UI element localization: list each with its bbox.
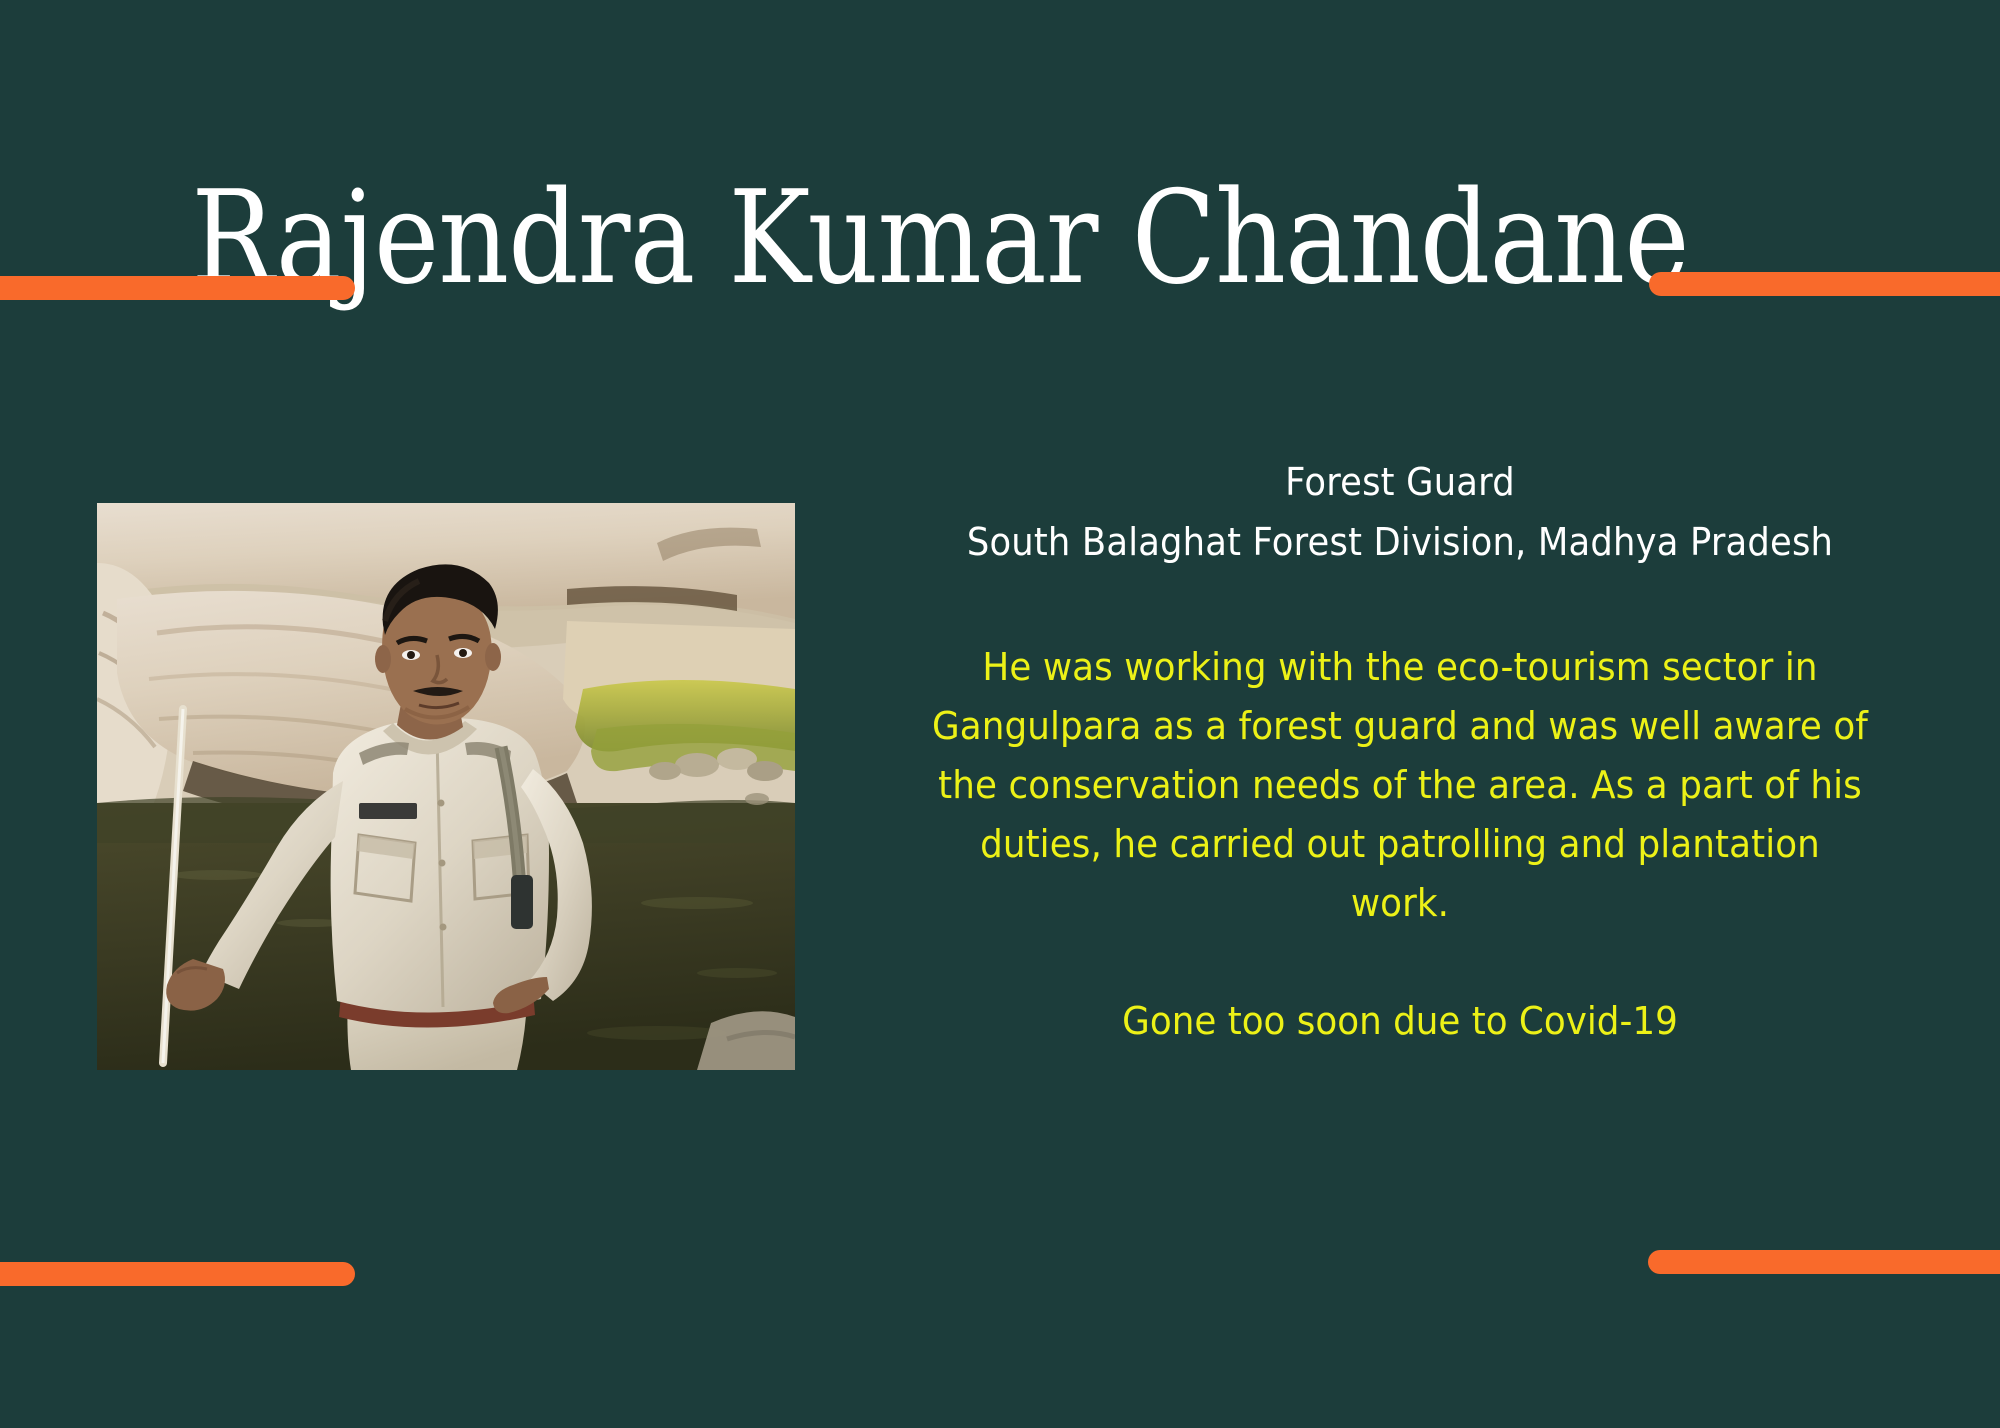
page-title: Rajendra Kumar Chandane	[132, 172, 1749, 306]
portrait-photo	[97, 503, 795, 1070]
accent-bar-top-right	[1649, 272, 2000, 296]
accent-bar-top-left	[0, 276, 355, 300]
accent-bar-bottom-right	[1648, 1250, 2000, 1274]
biography-text: He was working with the eco-tourism sect…	[930, 638, 1870, 933]
role-title: Forest Guard	[935, 452, 1865, 512]
memorial-slide: Rajendra Kumar Chandane	[0, 0, 2000, 1428]
division-line: South Balaghat Forest Division, Madhya P…	[935, 512, 1865, 572]
closing-tribute: Gone too soon due to Covid-19	[930, 992, 1870, 1051]
profile-text-column: Forest Guard South Balaghat Forest Divis…	[900, 452, 1900, 1051]
accent-bar-bottom-left	[0, 1262, 355, 1286]
